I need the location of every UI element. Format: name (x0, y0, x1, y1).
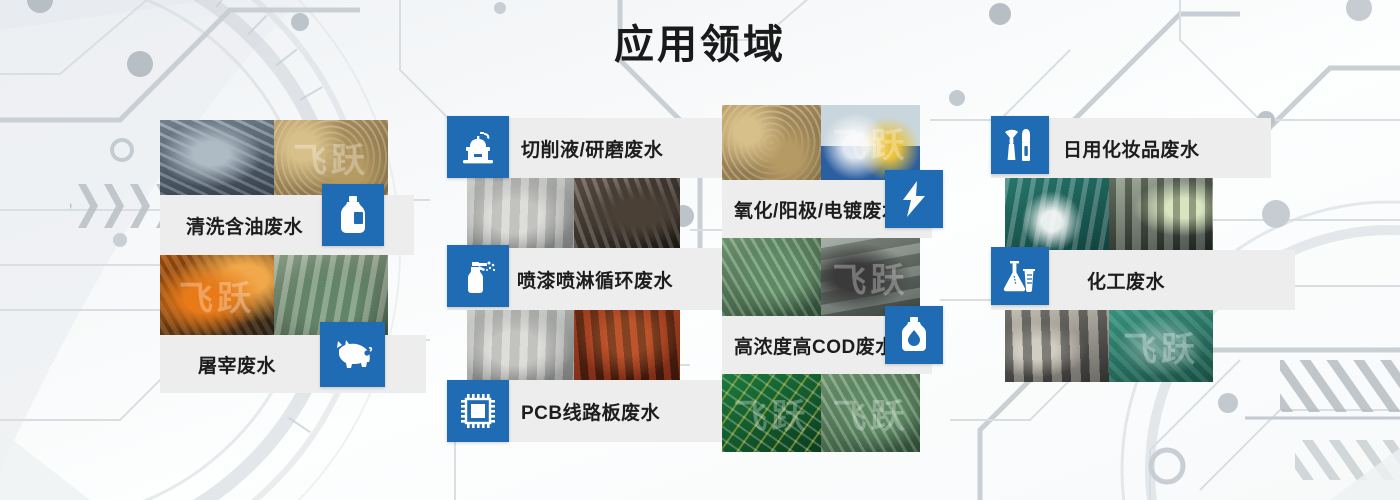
card-label: PCB线路板废水 (521, 398, 660, 425)
card-label: 屠宰废水 (198, 351, 276, 378)
photo-row: 飞跃 (722, 105, 920, 180)
card-label: 喷漆喷淋循环废水 (517, 266, 673, 293)
aeration-green-pool-photo (1005, 178, 1109, 250)
photo-watermark: 飞跃 (160, 255, 274, 335)
page-title: 应用领域 (0, 12, 1400, 70)
photo-row (467, 178, 680, 248)
jug-icon[interactable] (322, 184, 384, 246)
photo-watermark: 飞跃 (722, 374, 821, 452)
aeration-pool-photo (722, 238, 821, 316)
card-cosmetics-wastewater[interactable]: 日用化妆品废水 (991, 118, 1271, 178)
column-3: 飞跃 氧化/阳极/电镀废水 飞跃 高浓度高COD废水 (722, 105, 920, 452)
machining-coolant-photo (160, 120, 274, 195)
application-fields-banner: 应用领域 飞跃 清洗含油废水 飞跃 (0, 0, 1400, 500)
jug-drop-icon[interactable] (885, 306, 943, 364)
spray-booth-pit-photo (467, 310, 574, 380)
card-label: 清洗含油废水 (186, 212, 303, 239)
photo-watermark: 飞跃 (1109, 310, 1213, 382)
equipment-plant-photo (1005, 310, 1109, 382)
card-label: 化工废水 (1087, 267, 1165, 294)
photo-row: 飞跃 飞跃 (722, 374, 920, 452)
slaughter-blood-water-photo: 飞跃 (160, 255, 274, 335)
card-label: 高浓度高COD废水 (734, 332, 895, 359)
plating-line-photo (722, 105, 821, 180)
pig-icon[interactable] (320, 322, 385, 387)
card-chemical-wastewater[interactable]: 化工废水 (991, 250, 1295, 310)
lightning-bolt-icon[interactable] (885, 170, 943, 228)
sedimentation-tank-photo (467, 178, 574, 248)
brand-logo-photo: 飞跃 (1109, 310, 1213, 382)
column-2: 切削液/研磨废水 喷漆喷淋循环废水 (447, 118, 660, 442)
photo-row (1005, 178, 1213, 250)
photo-watermark: 飞跃 (821, 374, 920, 452)
spray-bottle-icon[interactable] (447, 245, 509, 307)
filter-vessels-photo (1109, 178, 1213, 250)
black-tank-photo: 飞跃 (821, 238, 920, 316)
membrane-module-photo: 飞跃 (821, 374, 920, 452)
photo-row: 飞跃 (1005, 310, 1213, 382)
cosmetics-icon[interactable] (991, 116, 1049, 174)
pcb-board-photo: 飞跃 (722, 374, 821, 452)
photo-row (467, 310, 680, 380)
card-pcb-wastewater[interactable]: PCB线路板废水 (447, 380, 734, 442)
beaker-samples-photo: 飞跃 (821, 105, 920, 180)
grinding-slurry-photo (574, 178, 681, 248)
card-cleaning-oil-wastewater[interactable]: 清洗含油废水 (160, 195, 414, 255)
photo-row: 飞跃 (722, 238, 920, 316)
photo-watermark: 飞跃 (821, 238, 920, 316)
card-high-cod-wastewater[interactable]: 高浓度高COD废水 (722, 316, 932, 374)
grinder-icon[interactable] (447, 116, 509, 178)
card-label: 切削液/研磨废水 (521, 135, 663, 162)
card-label: 氧化/阳极/电镀废水 (734, 196, 902, 223)
card-slaughter-wastewater[interactable]: 屠宰废水 (160, 335, 426, 393)
card-paint-spray-wastewater[interactable]: 喷漆喷淋循环废水 (447, 248, 730, 310)
photo-watermark: 飞跃 (821, 105, 920, 180)
flask-beaker-icon[interactable] (991, 247, 1049, 305)
column-1: 飞跃 清洗含油废水 飞跃 屠宰废水 (160, 120, 388, 393)
card-cutting-grinding-wastewater[interactable]: 切削液/研磨废水 (447, 118, 734, 178)
card-oxidation-anodizing-plating-wastewater[interactable]: 氧化/阳极/电镀废水 (722, 180, 932, 238)
card-label: 日用化妆品废水 (1063, 135, 1200, 162)
column-4: 日用化妆品废水 化工废水 飞 (991, 118, 1199, 382)
microchip-icon[interactable] (447, 380, 509, 442)
meat-hanging-photo (574, 310, 681, 380)
